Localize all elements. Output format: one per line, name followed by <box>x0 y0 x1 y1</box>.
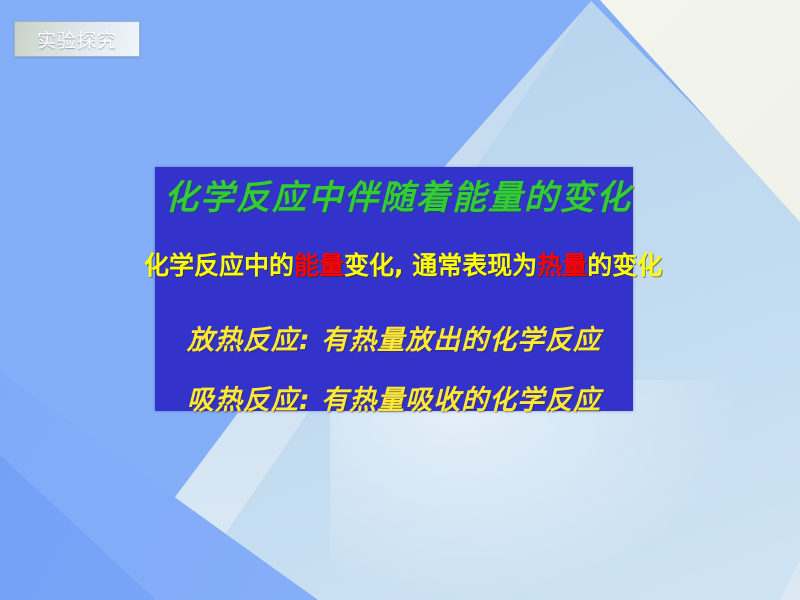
presentation-slide: 实验探究 化学反应中伴随着能量的变化 化学反应中的能量变化, 通常表现为热量的变… <box>0 0 800 600</box>
panel-title: 化学反应中伴随着能量的变化 <box>148 170 648 219</box>
definition-exothermic: 放热反应: 有热量放出的化学反应 <box>155 318 633 357</box>
panel-subtitle: 化学反应中的能量变化, 通常表现为热量的变化 <box>144 246 640 282</box>
section-badge: 实验探究 <box>14 21 140 57</box>
subtitle-highlight-heat: 热量 <box>537 251 587 280</box>
subtitle-part-1: 化学反应中的 <box>144 251 294 280</box>
subtitle-part-3: 的变化 <box>587 251 662 280</box>
subtitle-highlight-energy: 能量 <box>294 251 344 280</box>
definition-endothermic: 吸热反应: 有热量吸收的化学反应 <box>155 378 633 417</box>
subtitle-part-2: 变化, 通常表现为 <box>344 251 537 280</box>
